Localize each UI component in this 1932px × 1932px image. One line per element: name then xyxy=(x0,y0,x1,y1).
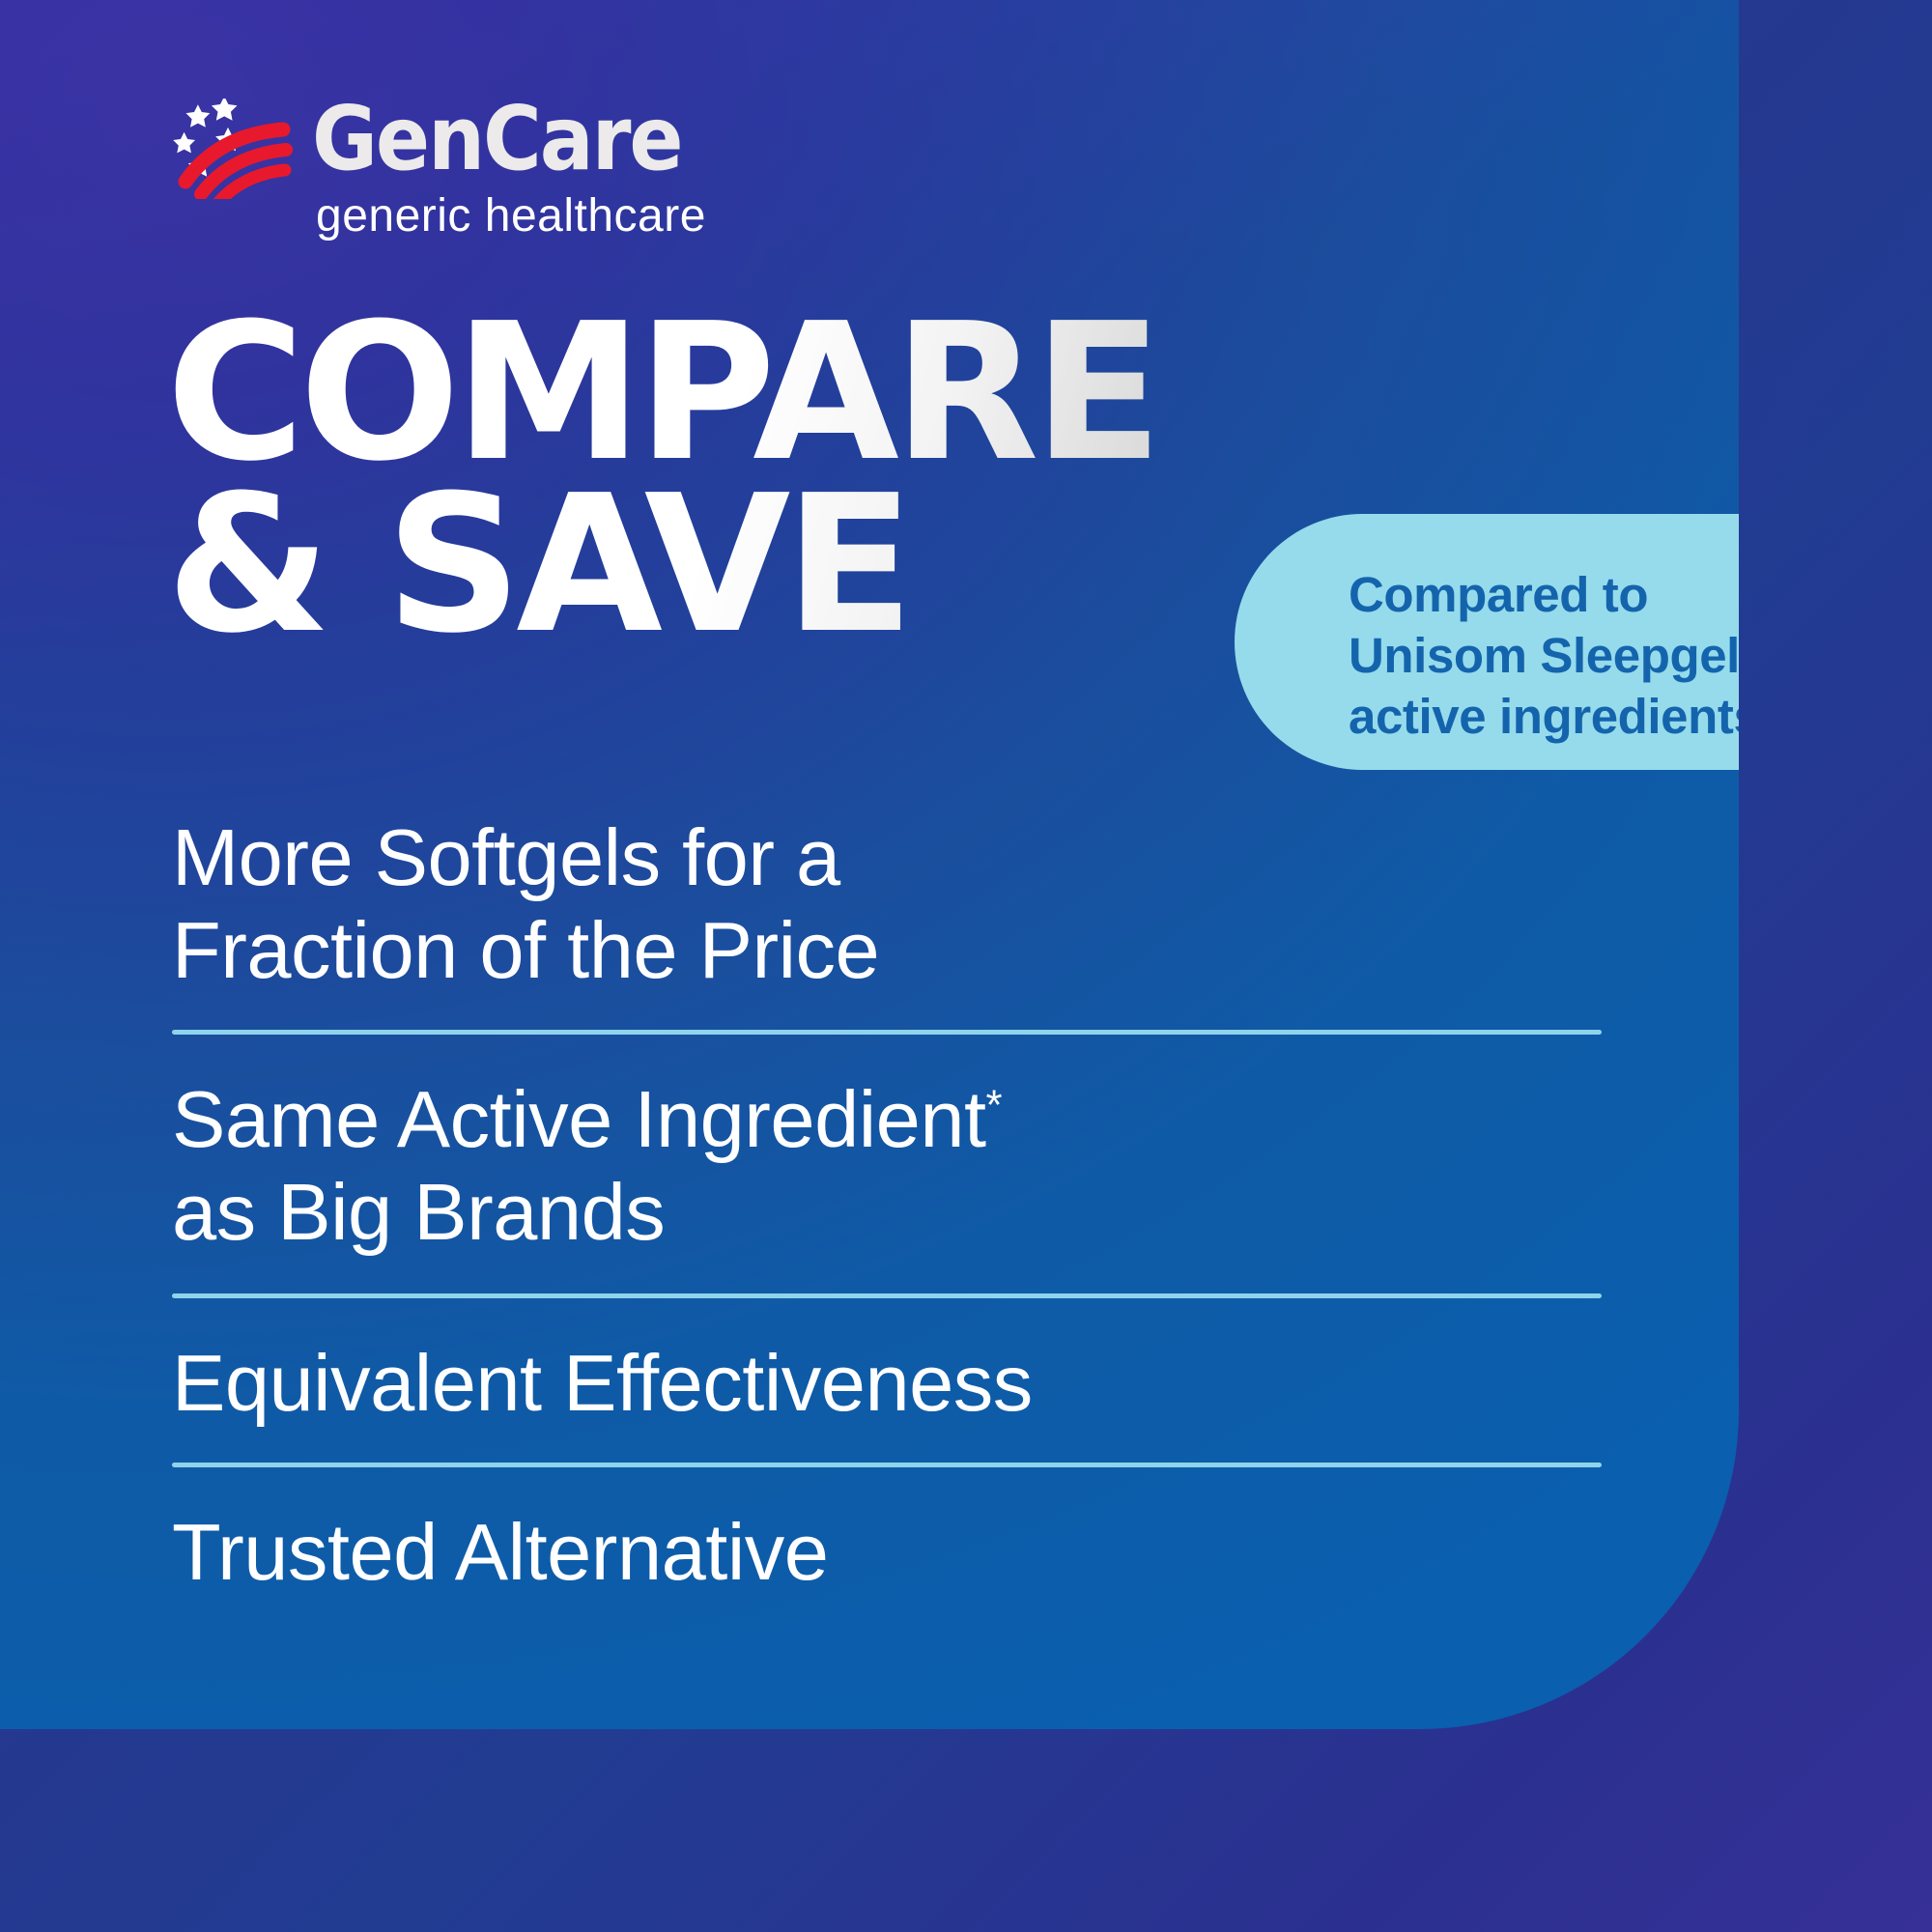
badge-line-2: Unisom Sleepgels® xyxy=(1349,625,1739,686)
brand-tagline: generic healthcare xyxy=(316,191,706,241)
badge-line-3: active ingredients xyxy=(1349,686,1739,747)
feature-2-line-1: Same Active Ingredient* xyxy=(172,1073,1611,1166)
stars-and-swoosh-flag-icon xyxy=(169,99,293,199)
page-title: COMPARE & SAVE xyxy=(166,307,1374,651)
promo-canvas: GenCare generic healthcare COMPARE & SAV… xyxy=(0,0,1932,1932)
main-blue-panel: GenCare generic healthcare COMPARE & SAV… xyxy=(0,0,1739,1729)
feature-3-line-1: Equivalent Effectiveness xyxy=(172,1337,1611,1430)
feature-item-1: More Softgels for a Fraction of the Pric… xyxy=(172,811,1611,1030)
feature-item-4: Trusted Alternative xyxy=(172,1467,1611,1599)
badge-brand-name: Unisom Sleepgels xyxy=(1349,628,1739,683)
feature-item-2: Same Active Ingredient* as Big Brands xyxy=(172,1035,1611,1293)
brand-logo: GenCare generic healthcare xyxy=(169,95,787,225)
feature-2-line-2: as Big Brands xyxy=(172,1166,1611,1259)
feature-4-line-1: Trusted Alternative xyxy=(172,1506,1611,1599)
brand-wordmark: GenCare xyxy=(312,93,682,185)
badge-line-1: Compared to xyxy=(1349,564,1739,625)
feature-1-line-1: More Softgels for a xyxy=(172,811,1611,904)
feature-1-line-2: Fraction of the Price xyxy=(172,904,1611,997)
feature-list: More Softgels for a Fraction of the Pric… xyxy=(172,811,1611,1599)
headline-line-1: COMPARE xyxy=(166,307,1374,479)
headline-line-2: & SAVE xyxy=(166,479,1374,651)
feature-item-3: Equivalent Effectiveness xyxy=(172,1298,1611,1463)
comparison-badge: Compared to Unisom Sleepgels® active ing… xyxy=(1235,514,1739,770)
asterisk-icon: * xyxy=(986,1081,1003,1128)
feature-2-text: Same Active Ingredient xyxy=(172,1074,986,1164)
